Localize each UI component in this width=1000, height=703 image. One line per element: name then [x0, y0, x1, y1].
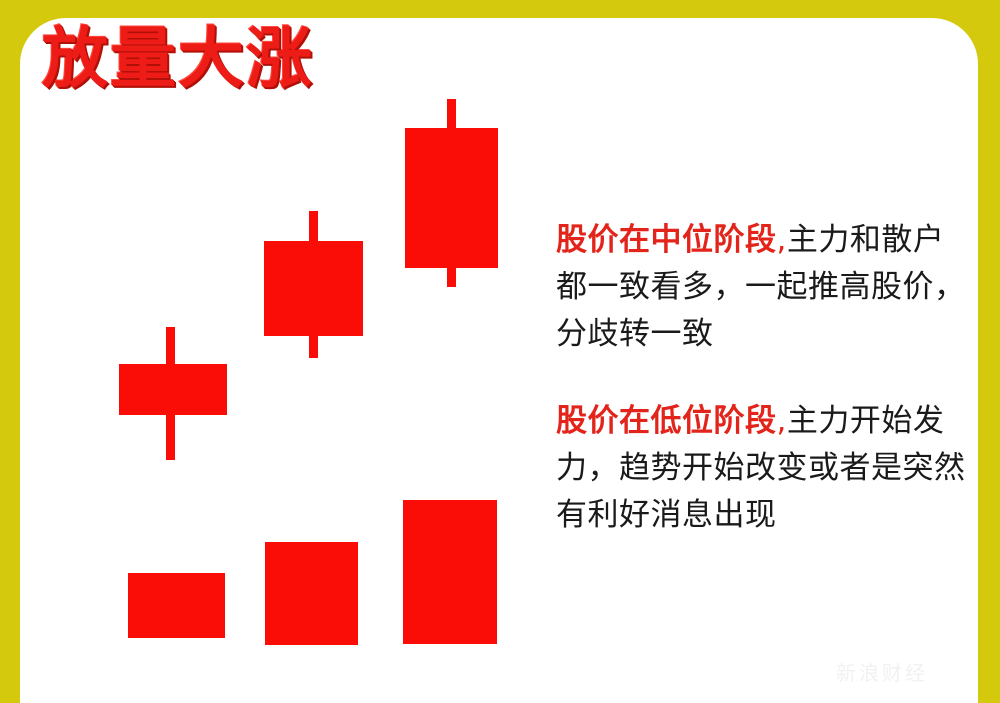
explanation-text-block: 股价在中位阶段,主力和散户都一致看多，一起推高股价，分歧转一致 股价在低位阶段,…: [556, 186, 966, 570]
volume-bar-1: [128, 573, 225, 638]
paragraph-2: 股价在低位阶段,主力开始发力，趋势开始改变或者是突然有利好消息出现: [556, 398, 966, 539]
poster-root: 放量大涨 股价在中位阶段,主力和散户都一致看多，一起推高股价，分歧转一致 股价在…: [0, 0, 1000, 703]
volume-bar-2: [265, 542, 358, 645]
candlestick-3-body: [405, 128, 498, 268]
volume-bar-3: [403, 500, 497, 644]
candlestick-2-body: [264, 241, 363, 336]
candlestick-chart: [0, 0, 540, 703]
paragraph-2-highlight: 股价在低位阶段: [556, 403, 777, 439]
paragraph-1-highlight: 股价在中位阶段: [556, 222, 777, 258]
candlestick-1-body: [119, 364, 227, 415]
watermark: 新浪财经: [836, 657, 928, 686]
paragraph-2-comma: ,: [777, 403, 787, 439]
paragraph-1-comma: ,: [777, 222, 787, 258]
paragraph-1: 股价在中位阶段,主力和散户都一致看多，一起推高股价，分歧转一致: [556, 217, 966, 358]
